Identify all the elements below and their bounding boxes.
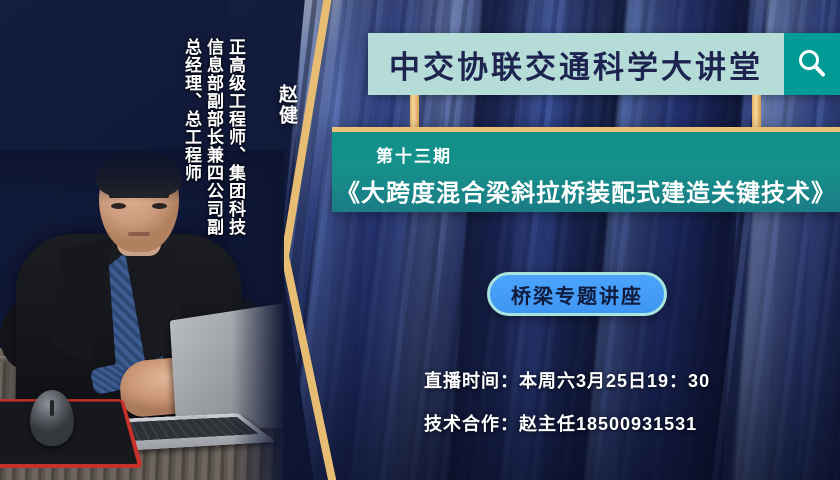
gold-connector-left (410, 95, 419, 128)
lecture-title-text: 《大跨度混合梁斜拉桥装配式建造关键技术》 (332, 173, 840, 208)
webinar-poster: 总经理、总工程师 信息部副部长兼四公司副 正高级工程师、集团科技 赵健 中交协联… (0, 0, 840, 480)
broadcast-time-text: 直播时间：本周六3月25日19：30 (424, 367, 710, 393)
search-icon (795, 47, 829, 81)
speaker-credential-line-3: 总经理、总工程师 (181, 38, 201, 182)
gold-connector-right (752, 95, 761, 128)
speaker-name: 赵健 (273, 84, 300, 126)
search-button[interactable] (784, 33, 840, 95)
lecture-title-banner: 第十三期 《大跨度混合梁斜拉桥装配式建造关键技术》 (332, 127, 840, 212)
speaker-credential-line-2: 信息部副部长兼四公司副 (203, 38, 223, 236)
topic-badge-label: 桥梁专题讲座 (511, 280, 643, 309)
technical-contact-text: 技术合作：赵主任18500931531 (424, 410, 697, 436)
brand-title-banner: 中交协联交通科学大讲堂 (368, 33, 840, 95)
issue-number-label: 第十三期 (376, 142, 840, 167)
topic-badge[interactable]: 桥梁专题讲座 (487, 272, 667, 316)
brand-title-text: 中交协联交通科学大讲堂 (389, 42, 763, 87)
brand-title-plate: 中交协联交通科学大讲堂 (368, 33, 784, 95)
speaker-credential-line-1: 正高级工程师、集团科技 (225, 38, 245, 236)
